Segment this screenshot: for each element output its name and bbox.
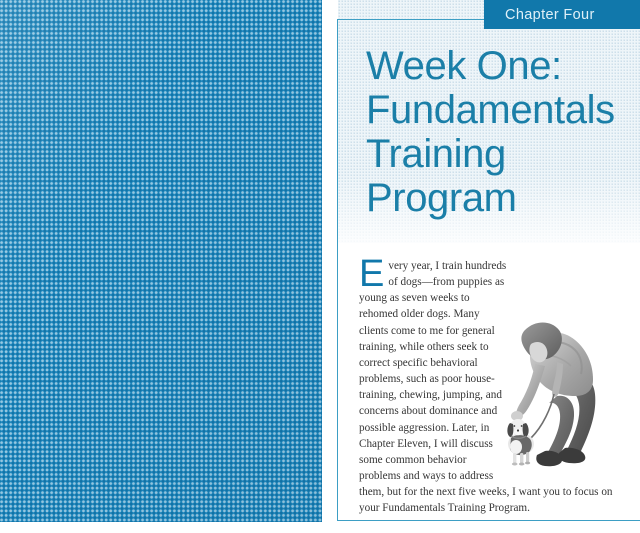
page-title-line-4: Program [366, 176, 634, 220]
panel-sheen-overlay [0, 0, 322, 522]
trainer-and-puppy-photo [501, 310, 625, 482]
page-title: Week One: Fundamentals Training Program [366, 44, 634, 220]
drop-cap: E [359, 259, 384, 290]
book-spread-page: Chapter Four Week One: Fundamentals Trai… [0, 0, 640, 533]
page-title-line-2: Fundamentals [366, 88, 634, 132]
chapter-tab: Chapter Four [484, 0, 640, 29]
page-title-line-1: Week One: [366, 44, 634, 88]
page-title-line-3: Training [366, 132, 634, 176]
body-copy-area: E very year, I train hundreds of dogs—fr… [359, 258, 625, 508]
chapter-tab-label: Chapter Four [484, 7, 595, 23]
left-decorative-panel [0, 0, 322, 522]
